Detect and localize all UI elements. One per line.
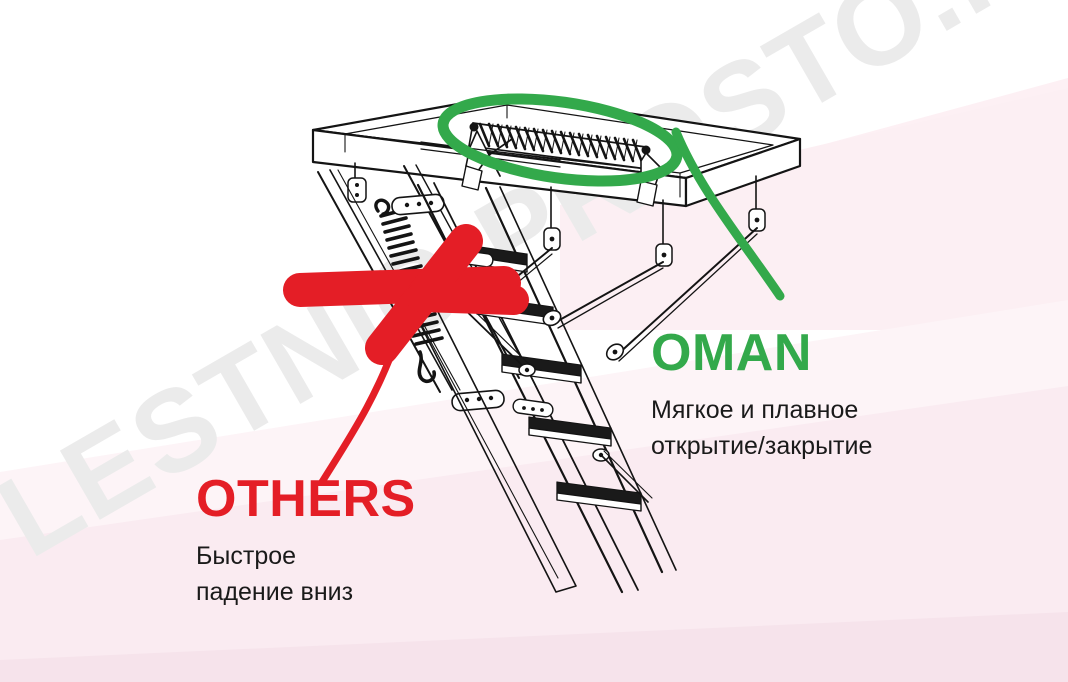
folded-section-inner bbox=[418, 318, 558, 578]
ladder-line-drawing bbox=[0, 0, 1068, 682]
others-caption-line-1: Быстрое bbox=[196, 539, 416, 575]
strut-upper-right-2 bbox=[558, 268, 663, 328]
anchor-lower-hole-1 bbox=[465, 398, 469, 402]
oman-caption-line-1: Мягкое и плавное bbox=[651, 393, 872, 429]
spring-eyelet-left bbox=[470, 123, 477, 130]
rail-fastener-1-hole-c bbox=[540, 408, 544, 412]
bracket-left bbox=[348, 178, 366, 202]
hinge-plate-left bbox=[462, 166, 482, 190]
rail-fastener-1-hole-a bbox=[522, 406, 526, 410]
ladder-rail-right-inner bbox=[500, 187, 676, 570]
illustration-canvas: LESTNIC-PROSTO.RU bbox=[0, 0, 1068, 682]
hinge-plate-right bbox=[637, 181, 657, 206]
bracket-far-right-hole bbox=[755, 218, 760, 223]
anchor-hole-3 bbox=[429, 201, 433, 205]
anchor-hole-1 bbox=[405, 203, 409, 207]
red-arrow-wing bbox=[421, 297, 514, 300]
bracket-left-hole bbox=[355, 183, 359, 187]
bracket-right-hole bbox=[662, 253, 667, 258]
annotation-bad-text: OTHERS Быстрое падение вниз bbox=[196, 473, 416, 610]
strut-upper-right bbox=[556, 262, 663, 322]
others-caption-line-2: падение вниз bbox=[196, 575, 416, 611]
others-heading: OTHERS bbox=[196, 473, 416, 525]
oman-caption-line-2: открытие/закрытие bbox=[651, 429, 872, 465]
bracket-left-hole-2 bbox=[355, 193, 359, 197]
rail-fastener-1-hole-b bbox=[531, 407, 535, 411]
bracket-mid-hole bbox=[550, 237, 555, 242]
annotation-good-text: OMAN Мягкое и плавное открытие/закрытие bbox=[651, 327, 872, 464]
anchor-hole-2 bbox=[417, 202, 421, 206]
coil-spring-hook bbox=[376, 200, 389, 214]
anchor-lower-hole-3 bbox=[489, 396, 493, 400]
oman-heading: OMAN bbox=[651, 327, 872, 379]
